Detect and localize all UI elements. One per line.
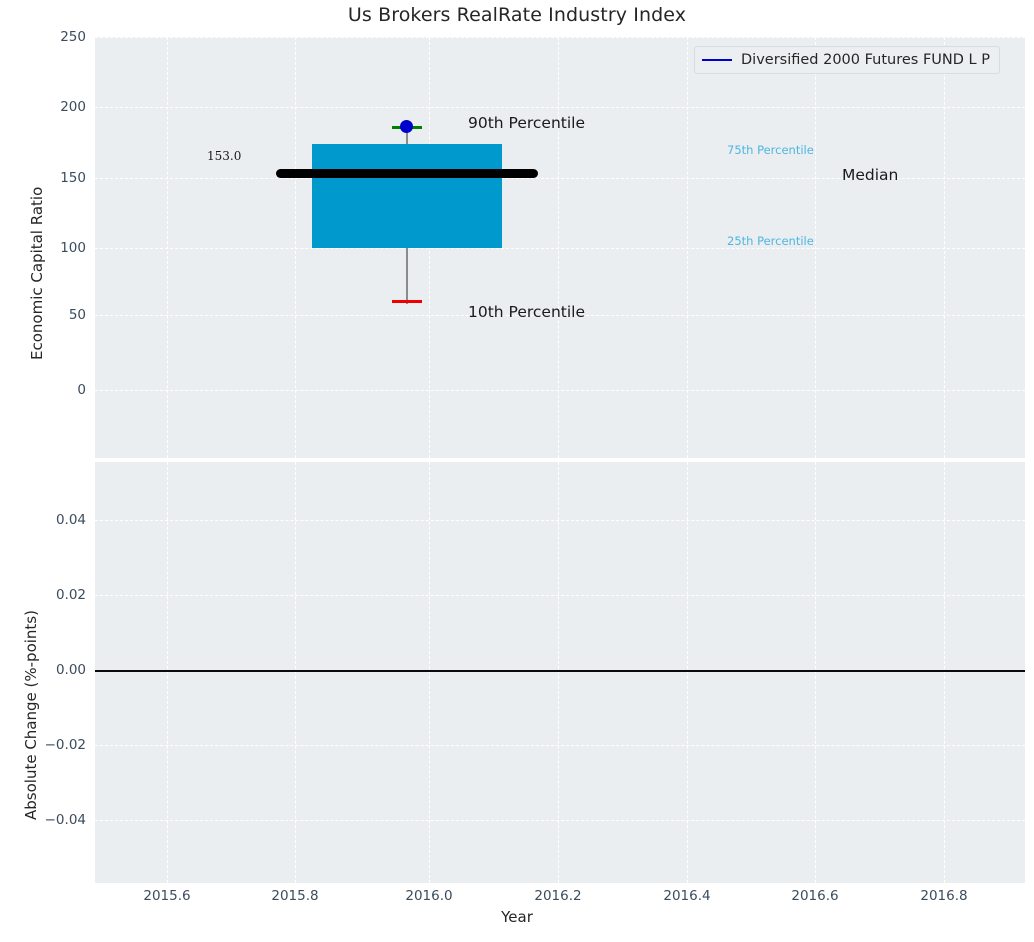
whisker-cap-10th-percentile (392, 300, 422, 303)
xtick-2016.4: 2016.4 (642, 888, 732, 904)
xtick-2016.2: 2016.2 (513, 888, 603, 904)
chart-figure: Us Brokers RealRate Industry Index (0, 0, 1034, 942)
gridline-x-2016.4 (687, 37, 688, 458)
gridline-y-0.04 (95, 520, 1025, 521)
legend[interactable]: Diversified 2000 Futures FUND L P (694, 46, 1000, 74)
gridline-x-2016.0-lower (429, 462, 430, 883)
gridline-y-100 (95, 248, 1025, 249)
ytick-50: 50 (6, 307, 86, 323)
gridline-x-2016.6 (815, 37, 816, 458)
ytick-0.00: 0.00 (6, 662, 86, 678)
gridline-x-2015.6 (167, 37, 168, 458)
gridline-x-2016.8 (944, 37, 945, 458)
gridline-y-0 (95, 390, 1025, 391)
gridline-x-2015.8 (295, 37, 296, 458)
gridline-x-2015.6-lower (167, 462, 168, 883)
xtick-2016.6: 2016.6 (770, 888, 860, 904)
xtick-2015.6: 2015.6 (122, 888, 212, 904)
xtick-2016.0: 2016.0 (384, 888, 474, 904)
gridline-y--0.02 (95, 745, 1025, 746)
annotation-10th-percentile: 10th Percentile (468, 303, 585, 321)
legend-entry-label: Diversified 2000 Futures FUND L P (741, 52, 990, 68)
y-axis-label-top: Economic Capital Ratio (28, 187, 46, 360)
gridline-x-2016.6-lower (815, 462, 816, 883)
axes-absolute-change (95, 462, 1025, 883)
xtick-2015.8: 2015.8 (250, 888, 340, 904)
gridline-y-250 (95, 37, 1025, 38)
y-axis-ticks: 250 200 150 100 50 0 0.04 0.02 0.00 −0.0… (0, 0, 86, 942)
fund-data-point-marker[interactable] (400, 120, 413, 133)
ytick-0: 0 (6, 382, 86, 398)
ytick-0.02: 0.02 (6, 587, 86, 603)
ytick-250: 250 (6, 29, 86, 45)
gridline-x-2016.2-lower (558, 462, 559, 883)
annotation-90th-percentile: 90th Percentile (468, 114, 585, 132)
box-interquartile-range (312, 144, 502, 248)
median-value-label: 153.0 (207, 149, 241, 163)
x-axis-label: Year (0, 908, 1034, 926)
chart-title: Us Brokers RealRate Industry Index (0, 4, 1034, 26)
legend-line-swatch (702, 59, 732, 61)
ytick-0.04: 0.04 (6, 512, 86, 528)
xtick-2016.8: 2016.8 (899, 888, 989, 904)
gridline-x-2015.8-lower (295, 462, 296, 883)
gridline-y--0.04 (95, 820, 1025, 821)
ytick--0.02: −0.02 (6, 737, 86, 753)
annotation-75th-percentile: 75th Percentile (727, 143, 814, 157)
gridline-y-0.02 (95, 595, 1025, 596)
gridline-x-2016.8-lower (944, 462, 945, 883)
gridline-x-2016.4-lower (687, 462, 688, 883)
y-axis-label-bottom: Absolute Change (%-points) (22, 610, 40, 820)
gridline-y-200 (95, 107, 1025, 108)
gridline-x-2016.2 (558, 37, 559, 458)
annotation-25th-percentile: 25th Percentile (727, 234, 814, 248)
axes-economic-capital-ratio (95, 37, 1025, 458)
ytick-100: 100 (6, 240, 86, 256)
ytick-150: 150 (6, 170, 86, 186)
ytick--0.04: −0.04 (6, 812, 86, 828)
ytick-200: 200 (6, 99, 86, 115)
annotation-median: Median (842, 166, 898, 184)
zero-reference-line (95, 670, 1025, 672)
median-line (276, 169, 538, 178)
